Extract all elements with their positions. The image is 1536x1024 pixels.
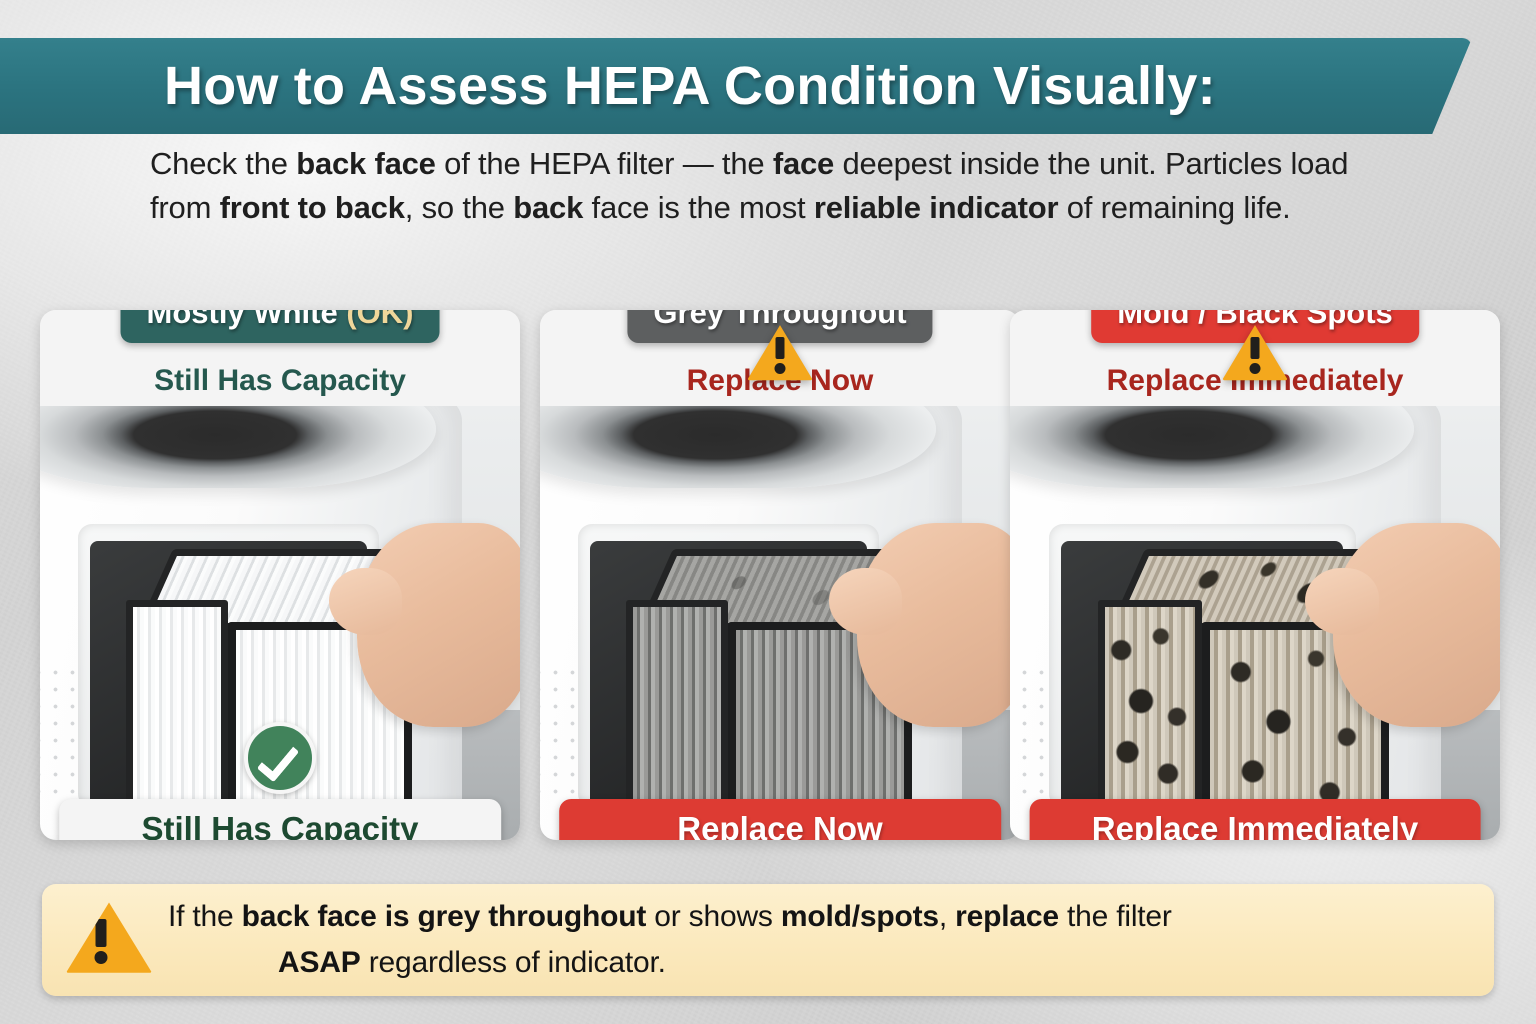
- exclamation-bar: [96, 919, 107, 947]
- triangle-shape: [66, 901, 152, 975]
- thumb: [1305, 568, 1379, 635]
- intro-text: , so the: [405, 190, 514, 225]
- exclamation-bar: [776, 337, 785, 359]
- hand-gripping-filter: [857, 523, 1020, 727]
- page-title: How to Assess HEPA Condition Visually:: [164, 55, 1216, 117]
- callout-message: If the back face is grey throughout or s…: [162, 894, 1172, 986]
- thumb: [829, 568, 902, 635]
- callout-text: regardless of indicator.: [361, 946, 666, 979]
- panel-mostly-white[interactable]: Mostly White (OK) Still Has Capacity: [40, 310, 520, 840]
- callout-text: If the: [168, 900, 242, 933]
- badge-suffix: (OK): [346, 310, 413, 330]
- panel-footer-verdict: Replace Now: [559, 799, 1001, 840]
- panel-grey-throughout[interactable]: Grey Throughout Replace Now: [540, 310, 1020, 840]
- intro-paragraph: Check the back face of the HEPA filter —…: [150, 142, 1390, 230]
- intro-strong: reliable indicator: [814, 190, 1058, 225]
- bottom-warning-callout: If the back face is grey throughout or s…: [42, 884, 1494, 996]
- intro-text: of the HEPA filter — the: [436, 146, 773, 181]
- panel-header: Mostly White (OK) Still Has Capacity: [40, 310, 520, 418]
- filter-left-face: [126, 600, 227, 810]
- callout-strong: ASAP: [278, 946, 361, 979]
- intro-strong: front to back: [220, 190, 405, 225]
- intro-line-1: Check the back face of the HEPA filter —…: [150, 146, 1157, 181]
- callout-strong: back face is grey throughout: [242, 900, 646, 933]
- intro-text: face is the most: [583, 190, 814, 225]
- purifier-top-vent: [1010, 406, 1414, 488]
- hand-gripping-filter: [1333, 523, 1500, 727]
- check-mark-glyph: [257, 738, 300, 783]
- panel-footer-verdict: Replace Immediately: [1030, 799, 1481, 840]
- warning-triangle-icon: [58, 901, 162, 979]
- panel-footer-verdict: Still Has Capacity: [59, 799, 501, 840]
- purifier-top-vent: [40, 406, 436, 488]
- callout-text: or shows: [646, 900, 781, 933]
- exclamation-dot: [1250, 363, 1261, 374]
- callout-text: ,: [939, 900, 955, 933]
- title-banner: How to Assess HEPA Condition Visually:: [0, 38, 1472, 134]
- callout-strong: mold/spots: [781, 900, 939, 933]
- filter-photo-mold: [1010, 406, 1500, 840]
- purifier-top-vent: [540, 406, 936, 488]
- check-circle-icon: [244, 722, 316, 794]
- intro-text: Check the: [150, 146, 296, 181]
- hand-gripping-filter: [357, 523, 520, 727]
- intro-strong: back face: [296, 146, 436, 181]
- exclamation-dot: [775, 363, 786, 374]
- filter-left-face: [626, 600, 727, 810]
- callout-strong: replace: [955, 900, 1059, 933]
- intro-strong: back: [513, 190, 583, 225]
- intro-line-3: of remaining life.: [1067, 190, 1291, 225]
- comparison-panel-row: Mostly White (OK) Still Has Capacity: [0, 300, 1536, 870]
- panel-status-badge: Mostly White (OK): [121, 310, 440, 343]
- panel-subheading: Still Has Capacity: [40, 364, 520, 398]
- intro-text: deepest inside the unit.: [834, 146, 1156, 181]
- exclamation-dot: [95, 951, 108, 964]
- filter-left-face: [1098, 600, 1201, 810]
- thumb: [329, 568, 402, 635]
- filter-photo-grey: [540, 406, 1020, 840]
- callout-text: the filter: [1059, 900, 1172, 933]
- panel-mold-black-spots[interactable]: Mold / Black Spots Replace Immediately: [1010, 310, 1500, 840]
- intro-strong: face: [773, 146, 834, 181]
- badge-label: Mostly White: [147, 310, 338, 330]
- exclamation-bar: [1251, 337, 1260, 359]
